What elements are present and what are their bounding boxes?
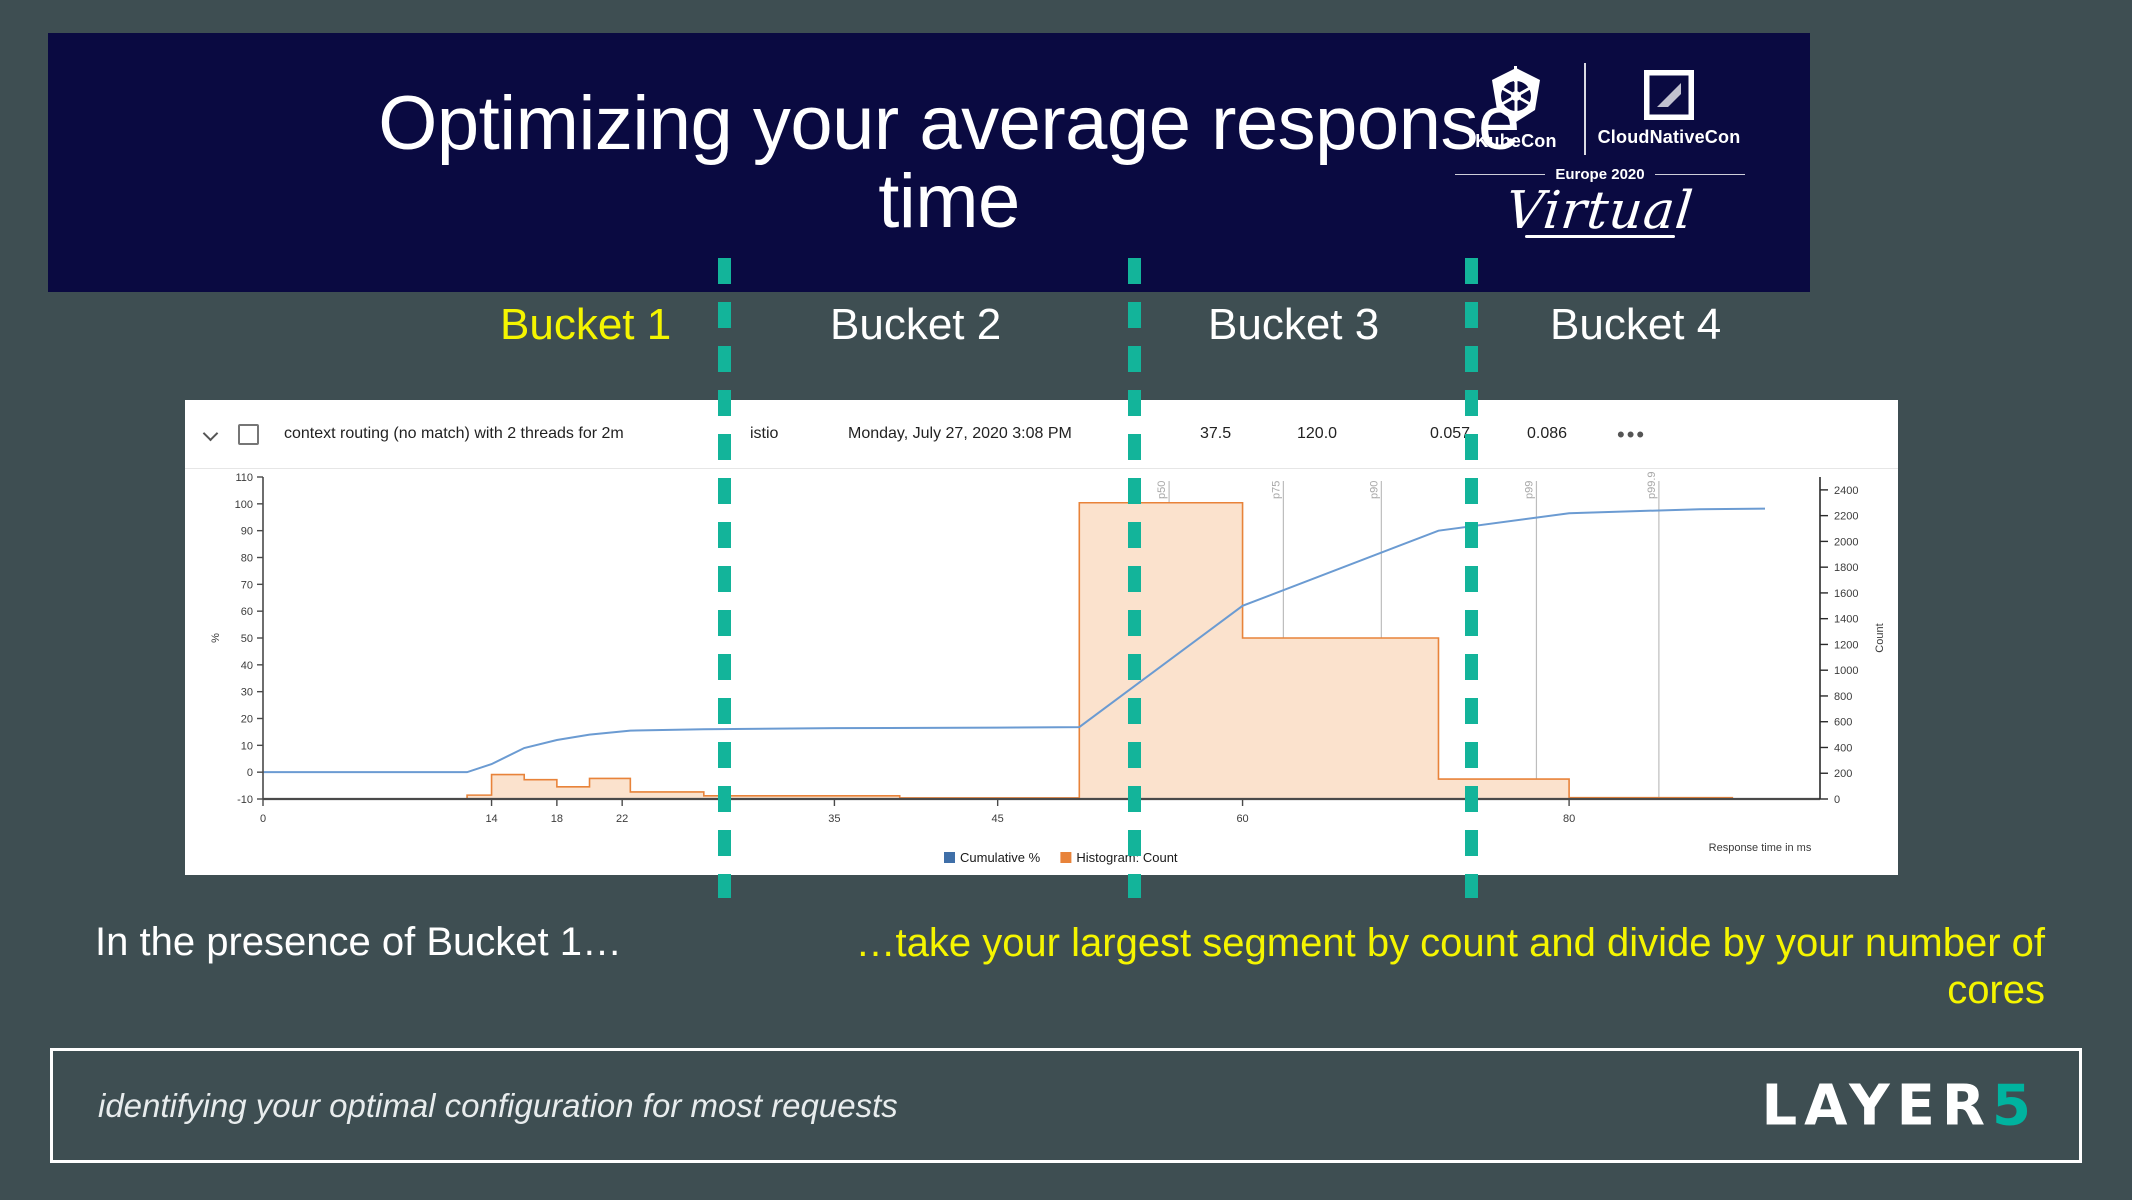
svg-text:800: 800 xyxy=(1834,691,1852,703)
cloudnativecon-logo-group: CloudNativeCon xyxy=(1594,70,1744,148)
svg-text:40: 40 xyxy=(241,660,253,672)
logo-rule-left xyxy=(1455,174,1545,175)
percentile-marker-p50: p50 xyxy=(1156,481,1168,499)
result-test-name: context routing (no match) with 2 thread… xyxy=(284,425,624,443)
kubecon-logo-group: KubeCon xyxy=(1456,66,1576,152)
svg-text:30: 30 xyxy=(241,687,253,699)
svg-text:Cumulative %: Cumulative % xyxy=(960,850,1041,865)
svg-text:80: 80 xyxy=(1563,813,1575,825)
percentile-marker-p75: p75 xyxy=(1270,481,1282,499)
result-timestamp: Monday, July 27, 2020 3:08 PM xyxy=(848,425,1072,443)
svg-text:0: 0 xyxy=(1834,794,1840,806)
svg-text:-10: -10 xyxy=(237,794,253,806)
percentile-marker-p99.9: p99.9 xyxy=(1646,471,1658,499)
layer5-wordmark: LAYER xyxy=(1761,1073,1992,1138)
svg-text:80: 80 xyxy=(241,553,253,565)
slide-footer: identifying your optimal configuration f… xyxy=(50,1048,2082,1163)
svg-text:45: 45 xyxy=(992,813,1004,825)
cumulative-line xyxy=(263,509,1765,773)
svg-text:2200: 2200 xyxy=(1834,511,1858,523)
bucket-label-row: Bucket 1 Bucket 2 Bucket 3 Bucket 4 xyxy=(0,300,2132,380)
result-value-1: 37.5 xyxy=(1200,425,1231,443)
bucket-label-4: Bucket 4 xyxy=(1550,300,1721,350)
svg-text:200: 200 xyxy=(1834,768,1852,780)
kubecon-cloudnativecon-logo: KubeCon CloudNativeCon Europe 2020 Virtu… xyxy=(1450,61,1750,271)
svg-text:90: 90 xyxy=(241,526,253,538)
caption-left: In the presence of Bucket 1… xyxy=(95,920,755,965)
svg-text:10: 10 xyxy=(241,740,253,752)
svg-text:22: 22 xyxy=(616,813,628,825)
result-mesh: istio xyxy=(750,425,778,443)
histogram-bars xyxy=(467,503,1732,799)
svg-text:70: 70 xyxy=(241,579,253,591)
slide-title-bar: Optimizing your average response time xyxy=(48,33,1810,292)
benchmark-result-card: context routing (no match) with 2 thread… xyxy=(185,400,1898,875)
bucket-divider-3 xyxy=(1465,258,1478,898)
x-axis-label: Response time in ms xyxy=(1709,842,1812,854)
kubernetes-helm-icon xyxy=(1488,66,1544,129)
svg-text:600: 600 xyxy=(1834,717,1852,729)
svg-text:0: 0 xyxy=(260,813,266,825)
svg-text:50: 50 xyxy=(241,633,253,645)
bucket-divider-2 xyxy=(1128,258,1141,898)
caption-right: …take your largest segment by count and … xyxy=(795,920,2045,1014)
svg-text:60: 60 xyxy=(241,606,253,618)
overflow-menu-icon[interactable]: ••• xyxy=(1617,429,1646,440)
logo-virtual-script: Virtual xyxy=(1503,181,1696,241)
page-title: Optimizing your average response time xyxy=(299,85,1599,240)
logo-row: KubeCon CloudNativeCon xyxy=(1456,61,1744,157)
result-value-4: 0.086 xyxy=(1527,425,1567,443)
svg-text:1000: 1000 xyxy=(1834,665,1858,677)
percentile-marker-p99: p99 xyxy=(1523,481,1535,499)
y2-axis-label: Count xyxy=(1874,623,1886,652)
histogram-chart: p50p75p90p99p99.9-1001020304050607080901… xyxy=(185,469,1898,875)
svg-text:1600: 1600 xyxy=(1834,588,1858,600)
bucket-label-1: Bucket 1 xyxy=(500,300,671,350)
svg-text:18: 18 xyxy=(551,813,563,825)
chart-legend: Cumulative %Histogram: Count xyxy=(944,850,1178,865)
svg-text:2000: 2000 xyxy=(1834,536,1858,548)
svg-text:1200: 1200 xyxy=(1834,639,1858,651)
svg-text:1800: 1800 xyxy=(1834,562,1858,574)
svg-text:110: 110 xyxy=(235,472,253,484)
layer5-logo: LAYER 5 xyxy=(1761,1073,2031,1138)
row-checkbox[interactable] xyxy=(238,424,259,445)
percentile-marker-p90: p90 xyxy=(1368,481,1380,499)
y-axis-label: % xyxy=(210,633,222,643)
logo-divider xyxy=(1584,63,1586,155)
chart-canvas: p50p75p90p99p99.9-1001020304050607080901… xyxy=(185,469,1898,875)
bucket-divider-1 xyxy=(718,258,731,898)
svg-text:0: 0 xyxy=(247,767,253,779)
chevron-down-icon[interactable] xyxy=(203,426,219,442)
svg-text:60: 60 xyxy=(1236,813,1248,825)
kubecon-label: KubeCon xyxy=(1475,131,1556,152)
svg-text:14: 14 xyxy=(485,813,497,825)
svg-text:35: 35 xyxy=(828,813,840,825)
cncf-icon xyxy=(1644,70,1694,125)
logo-rule-right xyxy=(1655,174,1745,175)
svg-text:2400: 2400 xyxy=(1834,485,1858,497)
footer-tagline: identifying your optimal configuration f… xyxy=(98,1087,898,1125)
svg-text:1400: 1400 xyxy=(1834,614,1858,626)
bucket-label-2: Bucket 2 xyxy=(830,300,1001,350)
bucket-label-3: Bucket 3 xyxy=(1208,300,1379,350)
result-row[interactable]: context routing (no match) with 2 thread… xyxy=(185,400,1898,469)
svg-text:20: 20 xyxy=(241,714,253,726)
cloudnativecon-label: CloudNativeCon xyxy=(1598,127,1741,148)
result-value-2: 120.0 xyxy=(1297,425,1337,443)
svg-text:400: 400 xyxy=(1834,742,1852,754)
svg-text:100: 100 xyxy=(235,499,253,511)
layer5-five-glyph: 5 xyxy=(1992,1073,2031,1138)
